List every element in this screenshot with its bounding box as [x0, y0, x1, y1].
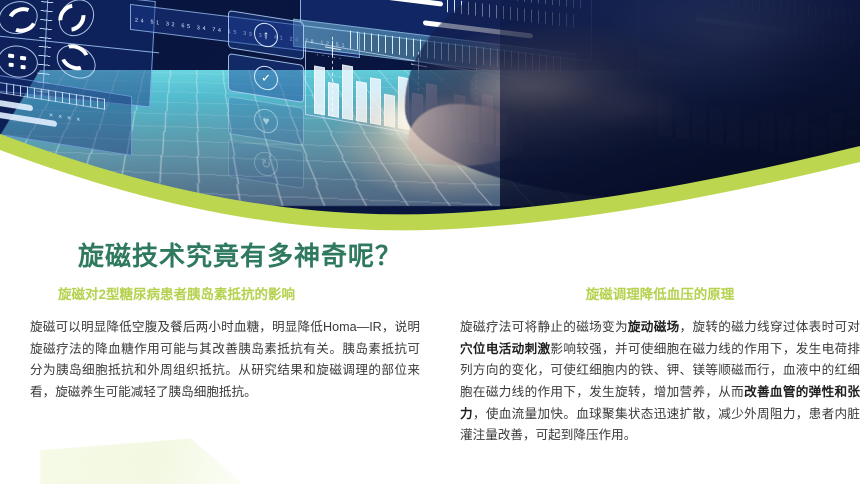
- hud-pill-bar-1: [0, 98, 33, 111]
- hud-progress-bar-2: [363, 0, 443, 7]
- check-icon: ✓: [254, 64, 278, 92]
- hud-ring-icon-2: [52, 0, 102, 43]
- emphasis-text: 旋动磁场: [628, 320, 680, 334]
- page-title: 旋磁技术究竟有多神奇呢？: [78, 236, 402, 273]
- hud-card-check[interactable]: ✓: [228, 53, 304, 103]
- section-body-bloodpressure: 旋磁疗法可将静止的磁场变为旋动磁场，旋转的磁力线穿过体表时可对穴位电活动刺激影响…: [460, 317, 860, 447]
- hud-dot-cluster-icon: [0, 44, 39, 80]
- arrow-up-icon: ↑: [254, 21, 278, 49]
- section-body-diabetes: 旋磁可以明显降低空腹及餐后两小时血糖，明显降低Homa—IR，说明旋磁疗法的降血…: [30, 317, 420, 404]
- plain-text: ，旋转的磁力线穿过体表时可对: [680, 320, 860, 334]
- chart-bar: [314, 65, 325, 115]
- plain-text: 旋磁疗法可将静止的磁场变为: [460, 320, 628, 334]
- chart-crosshair-marker: [325, 39, 341, 58]
- column-right: 旋磁调理降低血压的原理 旋磁疗法可将静止的磁场变为旋动磁场，旋转的磁力线穿过体表…: [460, 286, 860, 447]
- green-wave-divider: [0, 120, 860, 250]
- wave-green-band-soft: [0, 150, 860, 250]
- section-heading-bloodpressure: 旋磁调理降低血压的原理: [460, 286, 860, 305]
- plain-text: ，使血流量加快。血球聚集状态迅速扩散，减少外周阻力，患者内脏灌注量改善，可起到降…: [460, 407, 860, 443]
- wave-svg: [0, 120, 860, 250]
- hud-tick-column: [36, 0, 53, 93]
- poster-page: ×××× 04 03 09 24 51 32 65 34 74 15 33 35…: [0, 0, 860, 484]
- leaf-decoration: [40, 430, 250, 484]
- column-left: 旋磁对2型糖尿病患者胰岛素抵抗的影响 旋磁可以明显降低空腹及餐后两小时血糖，明显…: [30, 286, 420, 404]
- hud-ring-icon-1: [0, 0, 43, 39]
- section-heading-diabetes: 旋磁对2型糖尿病患者胰岛素抵抗的影响: [30, 286, 420, 305]
- emphasis-text: 穴位电活动刺激: [460, 342, 550, 356]
